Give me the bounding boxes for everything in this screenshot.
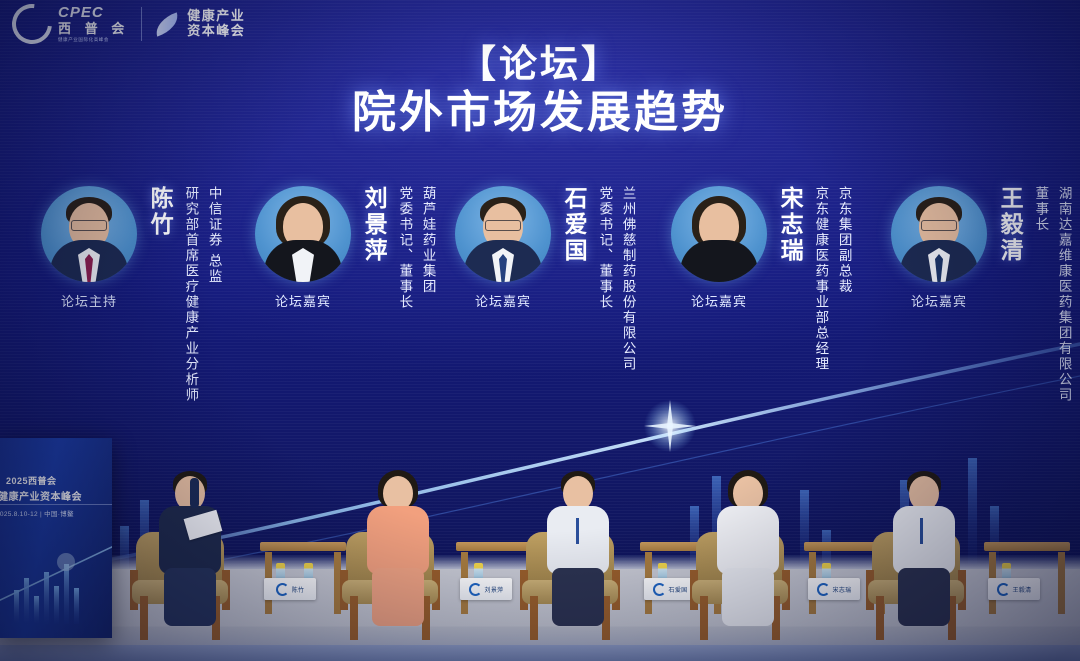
- panelist-role: 论坛主持: [61, 291, 117, 310]
- panelist-name: 刘景萍: [360, 186, 387, 264]
- seat-2: [510, 440, 650, 640]
- podium-banner: 2025西普会 健康产业资本峰会 2025.8.10-12 | 中国·博鳌: [0, 438, 112, 638]
- microphone: [190, 478, 199, 508]
- logo-divider: [141, 7, 142, 41]
- plate-logo-icon: [817, 583, 830, 596]
- podium-graphics: [0, 528, 112, 638]
- plate-logo-icon: [469, 583, 482, 596]
- panelist-name: 王毅清: [996, 186, 1023, 264]
- hic-line2: 资本峰会: [187, 24, 245, 39]
- panelist-org-line-1: 党委书记、董事长: [394, 186, 414, 310]
- panelist-org-line-0: 京东集团副总裁: [833, 186, 853, 372]
- panelist-org-line-0: 中信证券 总监: [203, 186, 223, 403]
- panelist-card-3: 论坛嘉宾 宋志瑞 京东集团副总裁 京东健康医药事业部总经理: [664, 186, 854, 372]
- nameplate-4: 王毅清: [988, 578, 1040, 600]
- podium-line3: 2025.8.10-12 | 中国·博鳌: [0, 508, 74, 518]
- cpec-logo: CPEC 西 普 会 健康产业国际化高峰会: [12, 4, 129, 44]
- plate-logo-icon: [653, 583, 666, 596]
- panelist-card-1: 论坛嘉宾 刘景萍 葫芦娃药业集团 党委书记、董事长: [248, 186, 438, 310]
- panelist-org-line-1: 董事长: [1030, 186, 1050, 403]
- panelist-cards: 论坛主持 陈竹 中信证券 总监 研究部首席医疗健康产业分析师 论坛嘉宾 刘景萍 …: [0, 186, 1080, 436]
- header-logos: CPEC 西 普 会 健康产业国际化高峰会 健康产业 资本峰会: [12, 4, 245, 44]
- nameplate-text: 王毅清: [1013, 585, 1032, 594]
- side-table-4: 王毅清: [980, 500, 1076, 640]
- seat-1: [330, 440, 470, 640]
- panelist-org-line-0: 葫芦娃药业集团: [417, 186, 437, 310]
- panelist-name: 石爱国: [560, 186, 587, 264]
- nameplate-1: 刘景萍: [460, 578, 512, 600]
- forum-title: 【论坛】 院外市场发展趋势: [0, 46, 1080, 138]
- panelist-org-line-1: 京东健康医药事业部总经理: [810, 186, 830, 372]
- avatar: [671, 186, 767, 282]
- person-seated: [530, 476, 626, 626]
- plate-logo-icon: [997, 583, 1010, 596]
- conference-stage-photo: CPEC 西 普 会 健康产业国际化高峰会 健康产业 资本峰会 【论坛】 院外市…: [0, 0, 1080, 661]
- avatar: [891, 186, 987, 282]
- panelist-org-line-1: 党委书记、董事长: [594, 186, 614, 372]
- panelist-org-line-0: 兰州佛慈制药股份有限公司: [617, 186, 637, 372]
- stage-floor-edge: [0, 645, 1080, 661]
- panelist-org-line-0: 湖南达嘉维康医药集团有限公司: [1053, 186, 1073, 403]
- panelist-card-0: 论坛主持 陈竹 中信证券 总监 研究部首席医疗健康产业分析师: [34, 186, 224, 403]
- nameplate-text: 宋志瑞: [833, 585, 852, 594]
- nameplate-text: 陈竹: [292, 585, 305, 594]
- panelist-title: 京东集团副总裁 京东健康医药事业部总经理: [807, 186, 854, 372]
- panelist-title: 葫芦娃药业集团 党委书记、董事长: [391, 186, 438, 310]
- panelist-title: 兰州佛慈制药股份有限公司 党委书记、董事长: [591, 186, 638, 372]
- nameplate-0: 陈竹: [264, 578, 316, 600]
- seat-4: [856, 440, 996, 640]
- person-seated: [876, 476, 972, 626]
- panelist-org-line-1: 研究部首席医疗健康产业分析师: [180, 186, 200, 403]
- cpec-sub: 健康产业国际化高峰会: [58, 38, 129, 43]
- panelist-name: 宋志瑞: [776, 186, 803, 264]
- panelist-role: 论坛嘉宾: [275, 291, 331, 310]
- panelist-title: 中信证券 总监 研究部首席医疗健康产业分析师: [177, 186, 224, 403]
- lanyard: [576, 518, 579, 544]
- avatar: [455, 186, 551, 282]
- leaf-icon: [152, 12, 182, 36]
- health-capital-summit-logo: 健康产业 资本峰会: [154, 9, 245, 38]
- person-seated: [700, 476, 796, 626]
- hic-line1: 健康产业: [187, 9, 245, 24]
- nameplate-3: 宋志瑞: [808, 578, 860, 600]
- podium-line2: 健康产业资本峰会: [0, 488, 82, 503]
- panelist-role: 论坛嘉宾: [691, 291, 747, 310]
- panelist-card-2: 论坛嘉宾 石爱国 兰州佛慈制药股份有限公司 党委书记、董事长: [448, 186, 638, 372]
- panelist-card-4: 论坛嘉宾 王毅清 湖南达嘉维康医药集团有限公司 董事长: [884, 186, 1074, 403]
- podium-rule: [0, 504, 112, 505]
- seated-panelists: 陈竹 刘景萍: [0, 410, 1080, 640]
- cpec-cn: 西 普 会: [58, 22, 129, 35]
- panelist-role: 论坛嘉宾: [911, 291, 967, 310]
- panelist-title: 湖南达嘉维康医药集团有限公司 董事长: [1027, 186, 1074, 403]
- avatar: [255, 186, 351, 282]
- seat-3: [680, 440, 820, 640]
- person-seated: [350, 476, 446, 626]
- cpec-abbr: CPEC: [58, 5, 129, 20]
- avatar: [41, 186, 137, 282]
- plate-logo-icon: [276, 583, 289, 596]
- title-bracketed: 【论坛】: [0, 46, 1080, 86]
- panelist-name: 陈竹: [146, 186, 173, 238]
- panelist-role: 论坛嘉宾: [475, 291, 531, 310]
- title-main: 院外市场发展趋势: [0, 88, 1080, 139]
- lanyard: [920, 518, 923, 544]
- podium-line1: 2025西普会: [6, 474, 57, 487]
- nameplate-text: 刘景萍: [485, 585, 504, 594]
- cpec-ring-icon: [4, 0, 60, 52]
